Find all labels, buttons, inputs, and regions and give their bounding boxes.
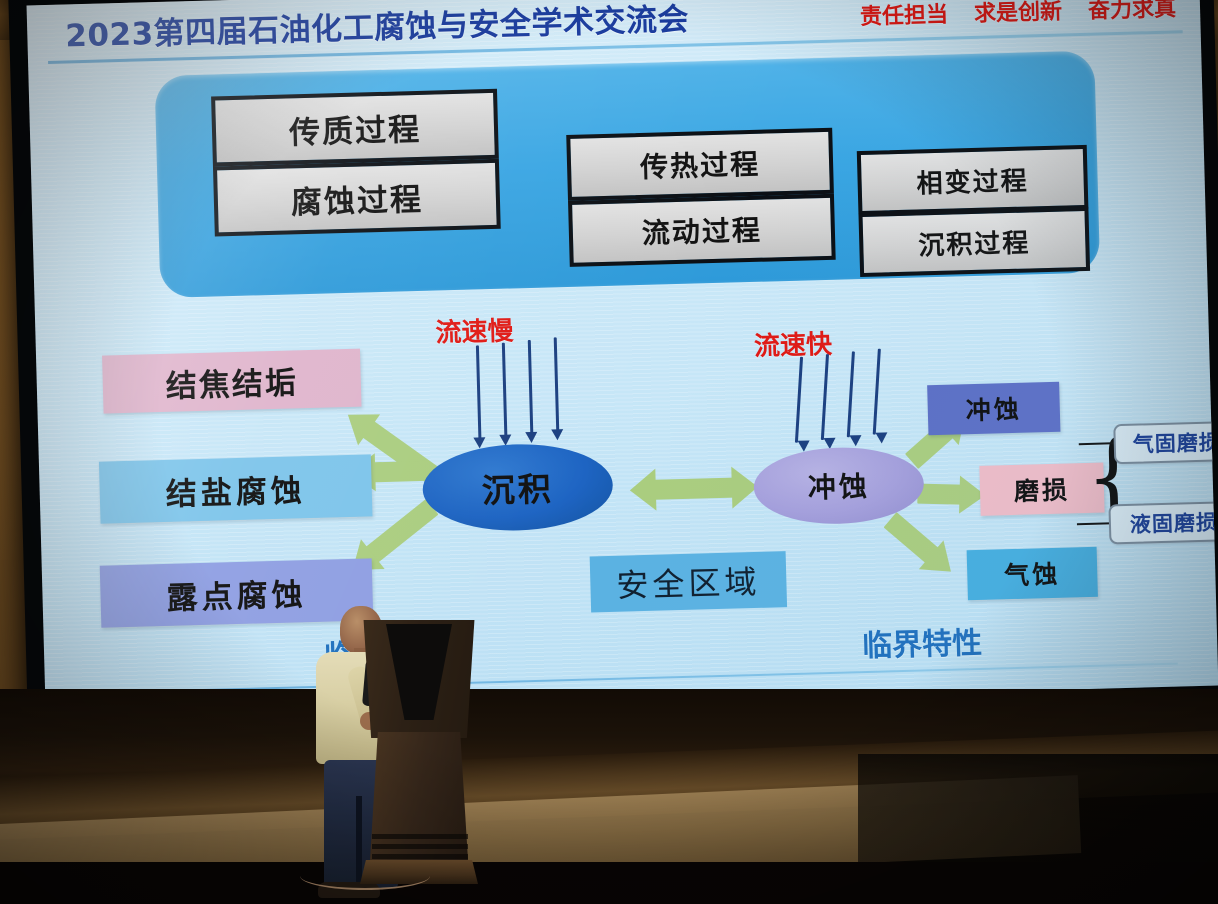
label-cavitation: 气蚀 [967, 547, 1098, 600]
label-safe-zone: 安全区域 [590, 551, 787, 612]
node-deposit: 沉积 [422, 442, 614, 533]
presentation-slide: 2023第四届石油化工腐蚀与安全学术交流会 责任担当 求是创新 奋力求真 传质过… [27, 0, 1218, 717]
caption-critical-property-right: 临界特性 [861, 618, 982, 665]
podium [356, 620, 482, 888]
process-panel: 传质过程 腐蚀过程 传热过程 流动过程 相变过程 沉积过程 [154, 51, 1100, 298]
process-box-heat-transfer: 传热过程 [566, 128, 834, 201]
annotation-fast-flow: 流速快 [753, 324, 832, 363]
label-coking-scaling: 结焦结垢 [102, 349, 361, 414]
callout-gas-solid-wear: 气固磨损 [1113, 421, 1218, 464]
process-box-deposition: 沉积过程 [858, 207, 1090, 277]
slogan-item-3: 奋力求真 [1088, 0, 1177, 25]
callout-liquid-solid-wear: 液固磨损 [1108, 501, 1218, 545]
stage-foreground-dark [0, 862, 1218, 904]
slogan-item-1: 责任担当 [860, 0, 949, 31]
label-salt-corrosion: 结盐腐蚀 [99, 454, 373, 523]
process-box-mass-transfer: 传质过程 [211, 89, 499, 167]
podium-rib-1 [372, 834, 468, 839]
process-box-phase-change: 相变过程 [857, 145, 1089, 215]
process-box-flow: 流动过程 [568, 194, 836, 267]
podium-rib-3 [372, 854, 468, 859]
podium-rib-2 [372, 844, 468, 849]
conference-slogan: 责任担当 求是创新 奋力求真 [860, 0, 1177, 31]
process-box-corrosion: 腐蚀过程 [213, 159, 501, 237]
slogan-item-2: 求是创新 [974, 0, 1063, 28]
podium-body [370, 732, 468, 860]
photo-of-conference-presentation: 2023第四届石油化工腐蚀与安全学术交流会 责任担当 求是创新 奋力求真 传质过… [0, 0, 1218, 904]
projection-screen: 2023第四届石油化工腐蚀与安全学术交流会 责任担当 求是创新 奋力求真 传质过… [8, 0, 1218, 746]
floor-cable [300, 862, 430, 890]
label-erosion: 冲蚀 [927, 382, 1060, 436]
green-double-arrow-deposit-erosion [629, 466, 758, 511]
